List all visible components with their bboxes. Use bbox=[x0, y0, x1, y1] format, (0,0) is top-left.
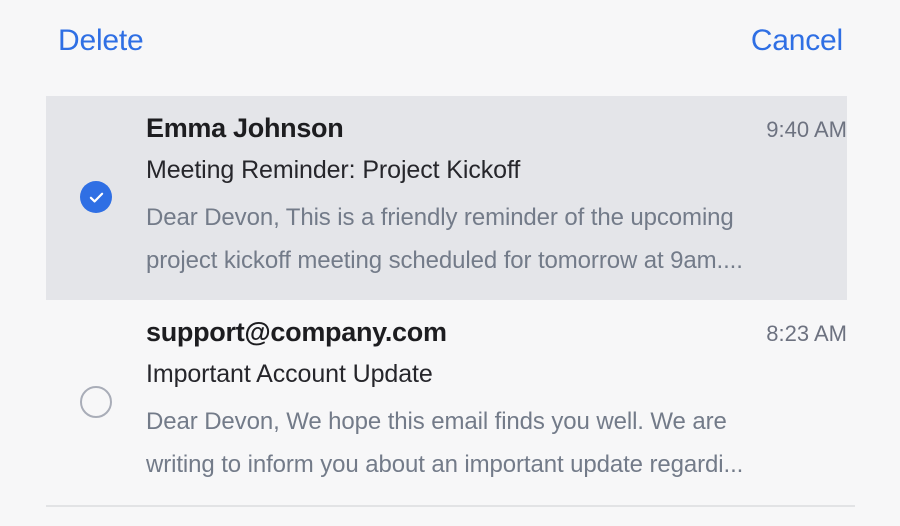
cancel-button[interactable]: Cancel bbox=[751, 26, 843, 56]
list-divider bbox=[46, 505, 855, 507]
message-list-item[interactable]: Emma Johnson 9:40 AM Meeting Reminder: P… bbox=[46, 96, 847, 300]
message-content: support@company.com 8:23 AM Important Ac… bbox=[112, 316, 847, 486]
message-header-line: Emma Johnson 9:40 AM bbox=[146, 112, 847, 146]
selection-toolbar: Delete Cancel bbox=[0, 0, 900, 82]
check-circle-filled-icon[interactable] bbox=[80, 181, 112, 213]
message-timestamp: 9:40 AM bbox=[766, 116, 847, 144]
message-list: Emma Johnson 9:40 AM Meeting Reminder: P… bbox=[0, 96, 900, 507]
message-header-line: support@company.com 8:23 AM bbox=[146, 316, 847, 350]
message-subject: Important Account Update bbox=[146, 359, 847, 390]
message-content: Emma Johnson 9:40 AM Meeting Reminder: P… bbox=[112, 112, 847, 282]
message-sender: support@company.com bbox=[146, 316, 447, 350]
message-sender: Emma Johnson bbox=[146, 112, 343, 146]
delete-button[interactable]: Delete bbox=[58, 26, 144, 56]
message-list-item[interactable]: support@company.com 8:23 AM Important Ac… bbox=[46, 300, 847, 504]
message-preview: Dear Devon, This is a friendly reminder … bbox=[146, 197, 791, 282]
message-timestamp: 8:23 AM bbox=[766, 320, 847, 348]
message-preview: Dear Devon, We hope this email finds you… bbox=[146, 401, 791, 486]
circle-outline-icon[interactable] bbox=[80, 386, 112, 418]
email-selection-screen: Delete Cancel Emma Johnson 9:40 AM Meeti… bbox=[0, 0, 900, 526]
checkbox-column bbox=[46, 112, 112, 282]
checkbox-column bbox=[46, 316, 112, 486]
message-subject: Meeting Reminder: Project Kickoff bbox=[146, 155, 847, 186]
